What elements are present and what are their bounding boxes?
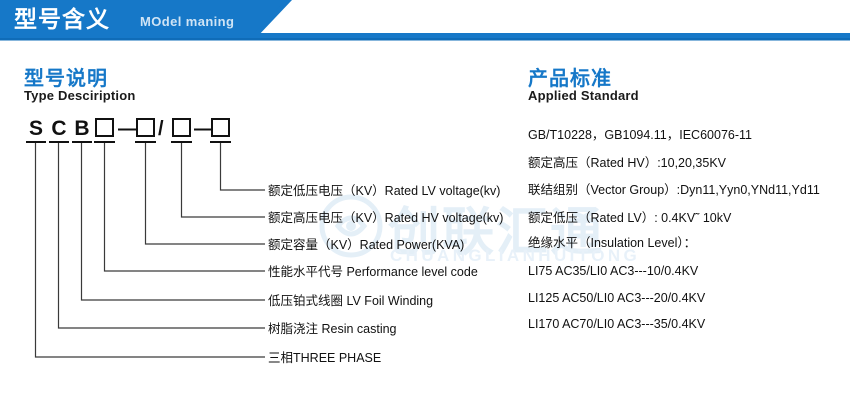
code-box-4: [211, 118, 230, 137]
standard-line-gb-iec: GB/T10228，GB1094.11，IEC60076-11: [528, 128, 752, 142]
code-char-s: S: [27, 116, 45, 142]
leader-lines: [0, 140, 280, 375]
callout-label-resin-casting: 树脂浇注 Resin casting: [268, 322, 397, 336]
model-designation-infographic: 型号含义 MOdel maning 创联汇通 CHUANGLIANHUITONG…: [0, 0, 850, 400]
watermark-text-cn: 创联汇通: [388, 190, 604, 265]
standard-line-li75: LI75 AC35/LI0 AC3---10/0.4KV: [528, 264, 698, 278]
standard-line-rated-hv: 额定高压（Rated HV）:10,20,35KV: [528, 156, 726, 170]
leader-line-paths: [0, 140, 280, 370]
callout-label-three-phase: 三相THREE PHASE: [268, 351, 381, 365]
standard-line-insulation-level: 绝缘水平（Insulation Level）：: [528, 236, 696, 250]
code-dash-1: —: [118, 116, 138, 142]
standard-line-li125: LI125 AC50/LI0 AC3---20/0.4KV: [528, 291, 705, 305]
code-box-1: [95, 118, 114, 137]
standard-line-rated-lv: 额定低压（Rated LV）: 0.4KV˜ 10kV: [528, 211, 731, 225]
left-panel-title-en: Type Desciription: [24, 88, 136, 103]
callout-label-rated-hv-voltage: 额定高压电压（KV）Rated HV voltage(kv): [268, 211, 503, 225]
right-panel-title-en: Applied Standard: [528, 88, 639, 103]
code-char-b: B: [73, 116, 91, 142]
code-box-2: [136, 118, 155, 137]
header-banner: 型号含义 MOdel maning: [0, 0, 850, 42]
banner-title-en: MOdel maning: [140, 14, 234, 29]
standard-line-li170: LI170 AC70/LI0 AC3---35/0.4KV: [528, 317, 705, 331]
standard-line-vector-group: 联结组别（Vector Group）:Dyn11,Yyn0,YNd11,Yd11: [528, 183, 820, 197]
code-char-c: C: [50, 116, 68, 142]
left-panel-title-cn: 型号说明: [24, 62, 108, 91]
watermark: 创联汇通 CHUANGLIANHUITONG: [318, 188, 710, 272]
callout-label-lv-foil-winding: 低压铂式线圈 LV Foil Winding: [268, 294, 433, 308]
code-box-3: [172, 118, 191, 137]
banner-shape: [0, 0, 850, 42]
callout-label-rated-power: 额定容量（KV）Rated Power(KVA): [268, 238, 464, 252]
callout-label-performance-level: 性能水平代号 Performance level code: [268, 265, 478, 279]
banner-title-cn: 型号含义: [14, 5, 110, 33]
code-slash: /: [158, 116, 164, 142]
right-panel-title-cn: 产品标准: [528, 62, 612, 91]
callout-label-rated-lv-voltage: 额定低压电压（KV）Rated LV voltage(kv): [268, 184, 500, 198]
